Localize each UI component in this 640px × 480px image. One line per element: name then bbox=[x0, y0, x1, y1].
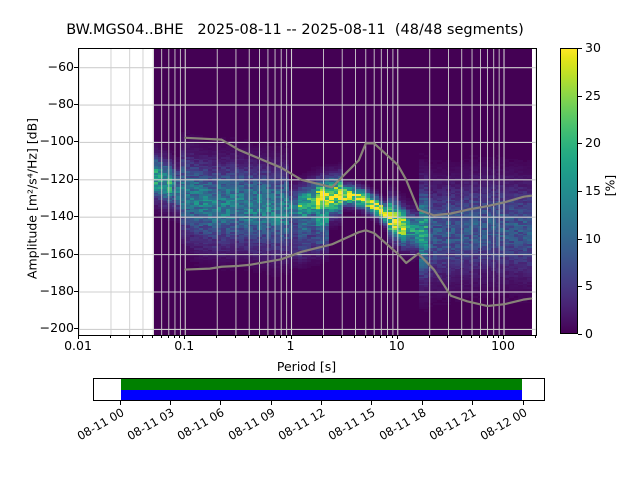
x-tick-mark-minor bbox=[152, 335, 153, 338]
ppsd-axes[interactable] bbox=[78, 48, 537, 336]
x-tick-mark-minor bbox=[535, 335, 536, 338]
x-tick-mark-minor bbox=[380, 335, 381, 338]
y-tick-mark bbox=[74, 254, 78, 255]
x-tick-mark-minor bbox=[129, 335, 130, 338]
x-tick-mark-minor bbox=[341, 335, 342, 338]
x-tick-mark-minor bbox=[447, 335, 448, 338]
colorbar-tick-label: 10 bbox=[585, 232, 615, 245]
timeline-tick-label: 08-11 03 bbox=[117, 406, 177, 448]
x-tick-mark-minor bbox=[142, 335, 143, 338]
y-tick-label: −120 bbox=[14, 172, 74, 185]
colorbar-tick-mark bbox=[578, 239, 582, 240]
x-tick-mark-minor bbox=[248, 335, 249, 338]
colorbar-tick-label: 20 bbox=[585, 136, 615, 149]
x-tick-mark-minor bbox=[216, 335, 217, 338]
timeline-tick-mark bbox=[321, 401, 322, 405]
timeline-axes[interactable] bbox=[93, 378, 545, 401]
colorbar-tick-label: 0 bbox=[585, 327, 615, 340]
y-tick-label: −200 bbox=[14, 321, 74, 334]
noise-model-curves bbox=[79, 49, 536, 335]
x-tick-mark-minor bbox=[259, 335, 260, 338]
x-tick-mark-minor bbox=[487, 335, 488, 338]
noise-model-nlnm bbox=[185, 230, 531, 306]
ppsd-figure: BW.MGS04..BHE 2025-08-11 -- 2025-08-11 (… bbox=[0, 0, 640, 480]
colorbar-tick-mark bbox=[578, 96, 582, 97]
x-tick-mark-minor bbox=[322, 335, 323, 338]
timeline-tick-label: 08-11 06 bbox=[167, 406, 227, 448]
y-tick-mark bbox=[74, 67, 78, 68]
data-coverage-bar bbox=[121, 379, 522, 390]
timeline-tick-mark bbox=[220, 401, 221, 405]
timeline-tick-mark bbox=[170, 401, 171, 405]
y-tick-mark bbox=[74, 216, 78, 217]
timeline-tick-label: 08-11 09 bbox=[217, 406, 277, 448]
timeline-tick-mark bbox=[523, 401, 524, 405]
y-tick-mark bbox=[74, 104, 78, 105]
colorbar-tick-mark bbox=[578, 143, 582, 144]
x-tick-mark-minor bbox=[373, 335, 374, 338]
y-tick-label: −80 bbox=[14, 97, 74, 110]
x-tick-mark-minor bbox=[168, 335, 169, 338]
x-tick-mark-minor bbox=[386, 335, 387, 338]
y-tick-mark bbox=[74, 141, 78, 142]
y-axis-label: Amplitude [m²/s⁴/Hz] [dB] bbox=[25, 84, 40, 314]
y-tick-mark bbox=[74, 291, 78, 292]
timeline-tick-mark bbox=[120, 401, 121, 405]
x-tick-label: 10 bbox=[362, 339, 432, 353]
y-tick-mark bbox=[74, 328, 78, 329]
timeline-tick-mark bbox=[472, 401, 473, 405]
x-tick-mark-minor bbox=[161, 335, 162, 338]
x-tick-label: 1 bbox=[256, 339, 326, 353]
colorbar-tick-mark bbox=[578, 191, 582, 192]
colorbar-tick-label: 30 bbox=[585, 41, 615, 54]
x-tick-mark-minor bbox=[461, 335, 462, 338]
x-tick-mark-minor bbox=[365, 335, 366, 338]
colorbar[interactable] bbox=[560, 48, 578, 334]
plot-title: BW.MGS04..BHE 2025-08-11 -- 2025-08-11 (… bbox=[0, 22, 590, 39]
colorbar-tick-label: 25 bbox=[585, 89, 615, 102]
y-tick-label: −160 bbox=[14, 247, 74, 260]
timeline-tick-mark bbox=[422, 401, 423, 405]
timeline-tick-label: 08-12 00 bbox=[469, 406, 529, 448]
x-tick-mark-minor bbox=[267, 335, 268, 338]
y-tick-label: −140 bbox=[14, 209, 74, 222]
x-tick-mark-minor bbox=[235, 335, 236, 338]
colorbar-tick-label: 5 bbox=[585, 279, 615, 292]
ppsd-axes-inner bbox=[79, 49, 536, 335]
x-tick-mark-minor bbox=[280, 335, 281, 338]
x-tick-mark-minor bbox=[354, 335, 355, 338]
x-tick-mark-minor bbox=[471, 335, 472, 338]
x-axis-label: Period [s] bbox=[78, 359, 535, 374]
timeline-tick-mark bbox=[271, 401, 272, 405]
x-tick-label: 100 bbox=[468, 339, 538, 353]
timeline-tick-label: 08-11 15 bbox=[318, 406, 378, 448]
colorbar-tick-mark bbox=[578, 48, 582, 49]
timeline-tick-mark bbox=[371, 401, 372, 405]
x-tick-mark-minor bbox=[110, 335, 111, 338]
y-tick-mark bbox=[74, 179, 78, 180]
y-tick-label: −180 bbox=[14, 284, 74, 297]
y-tick-label: −60 bbox=[14, 60, 74, 73]
x-tick-mark-minor bbox=[479, 335, 480, 338]
x-tick-label: 0.1 bbox=[149, 339, 219, 353]
noise-model-nhnm bbox=[185, 138, 531, 216]
psd-segments-bar bbox=[121, 390, 522, 401]
x-tick-mark-minor bbox=[429, 335, 430, 338]
colorbar-gradient bbox=[560, 48, 578, 334]
colorbar-tick-label: 15 bbox=[585, 184, 615, 197]
timeline-tick-label: 08-11 21 bbox=[419, 406, 479, 448]
timeline-tick-label: 08-11 00 bbox=[66, 406, 126, 448]
timeline-tick-label-text: 08-12 00 bbox=[478, 406, 529, 443]
colorbar-tick-mark bbox=[578, 334, 582, 335]
timeline-tick-label: 08-11 12 bbox=[268, 406, 328, 448]
y-tick-label: −100 bbox=[14, 134, 74, 147]
y-axis-ticks: −60−80−100−120−140−160−180−200 bbox=[8, 0, 74, 480]
colorbar-tick-mark bbox=[578, 286, 582, 287]
x-tick-mark-minor bbox=[274, 335, 275, 338]
timeline-tick-label: 08-11 18 bbox=[368, 406, 428, 448]
x-tick-label: 0.01 bbox=[43, 339, 113, 353]
